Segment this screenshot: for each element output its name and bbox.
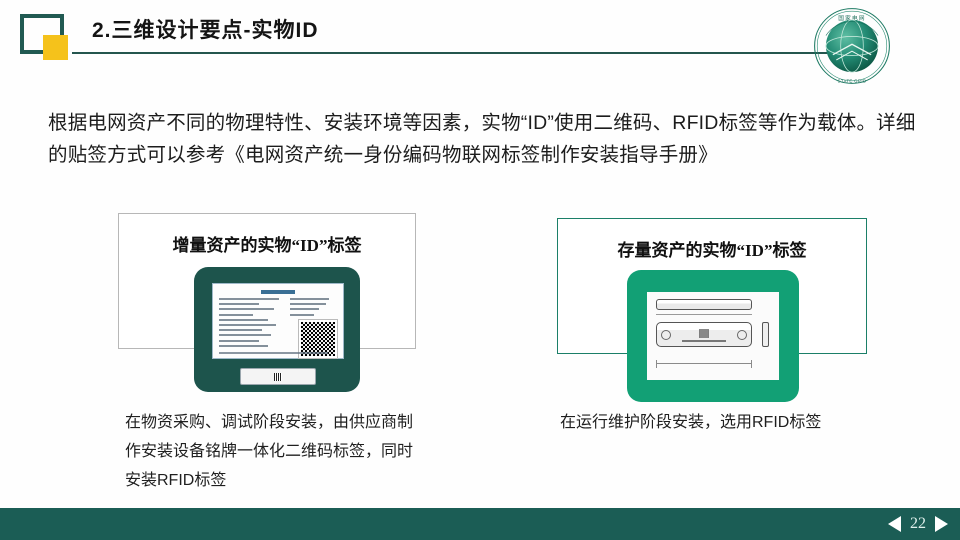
- technical-drawing: [647, 292, 779, 380]
- nameplate-field-line: [290, 308, 319, 310]
- card-title: 存量资产的实物“ID”标签: [557, 236, 867, 261]
- nameplate-left-column: [219, 298, 284, 350]
- slide-footer: 22: [0, 508, 960, 540]
- drawing-front-view: [656, 322, 752, 347]
- page-title: 2.三维设计要点-实物ID: [92, 14, 319, 44]
- nameplate-field-line: [219, 314, 253, 316]
- drawing-top-view: [656, 299, 752, 310]
- body-paragraph: 根据电网资产不同的物理特性、安装环境等因素，实物“ID”使用二维码、RFID标签…: [48, 107, 928, 171]
- decoration-square-filled-icon: [43, 35, 68, 60]
- nameplate-fields: [219, 298, 337, 350]
- drawing-side-view: [762, 322, 769, 347]
- nameplate-field-line: [219, 340, 259, 342]
- state-grid-logo: 国家电网 STATE GRID: [806, 6, 898, 86]
- nameplate-field-line: [219, 329, 262, 331]
- drawing-dimension-bottom: [656, 363, 752, 364]
- slide-header: 2.三维设计要点-实物ID 国家电网 STATE GRID: [0, 0, 960, 92]
- nameplate-field-line: [219, 319, 268, 321]
- nameplate-field-line: [219, 303, 259, 305]
- nameplate-field-line: [219, 334, 271, 336]
- rfid-tag-strip: [240, 368, 316, 385]
- drawing-label-line: [682, 340, 726, 342]
- caption-incremental-asset: 在物资采购、调试阶段安装，由供应商制作安装设备铭牌一体化二维码标签，同时安装RF…: [125, 408, 425, 495]
- arrow-left-icon[interactable]: [888, 516, 901, 532]
- equipment-nameplate: [212, 283, 344, 359]
- arrow-right-icon[interactable]: [935, 516, 948, 532]
- nameplate-field-line: [219, 345, 268, 347]
- drawing-dimension-top: [656, 314, 752, 315]
- nameplate-field-line: [290, 303, 326, 305]
- nameplate-field-line: [219, 298, 279, 300]
- caption-stock-asset: 在运行维护阶段安装，选用RFID标签: [560, 408, 860, 437]
- nameplate-field-line: [219, 308, 274, 310]
- pager: 22: [888, 515, 948, 533]
- card-title: 增量资产的实物“ID”标签: [118, 231, 416, 256]
- nameplate-heading: [261, 290, 295, 294]
- nameplate-field-line: [290, 314, 314, 316]
- nameplate-qr-photo: [194, 267, 360, 392]
- page-number: 22: [910, 515, 926, 533]
- title-underline: [72, 52, 858, 54]
- svg-text:国家电网: 国家电网: [838, 14, 865, 22]
- nameplate-field-line: [219, 324, 276, 326]
- qr-code-icon: [700, 329, 709, 338]
- nameplate-right-column: [290, 298, 337, 350]
- svg-text:STATE GRID: STATE GRID: [838, 79, 867, 84]
- nameplate-footer-line: [219, 352, 328, 354]
- rfid-tag-drawing: [627, 270, 799, 402]
- slide: 2.三维设计要点-实物ID 国家电网 STATE GRID 根据电网资产不同的物…: [0, 0, 960, 540]
- nameplate-field-line: [290, 298, 330, 300]
